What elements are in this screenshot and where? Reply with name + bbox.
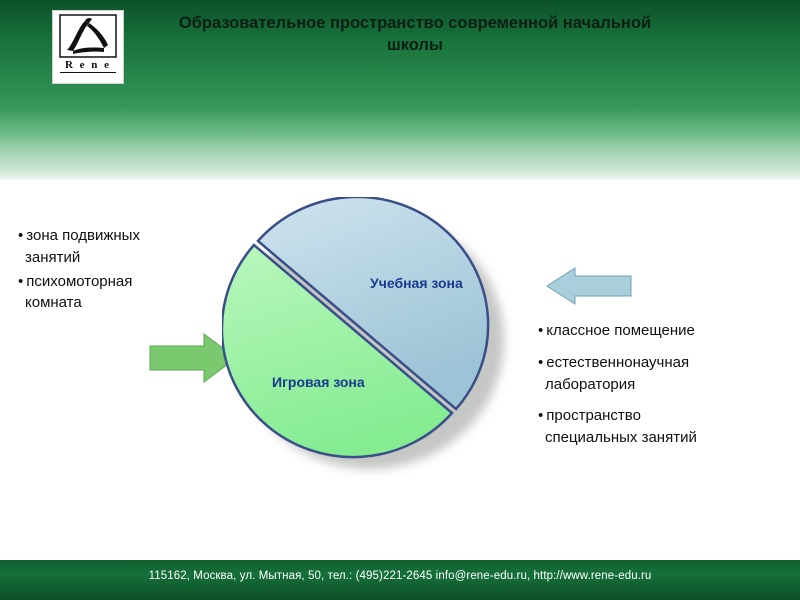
list-item: •классное помещение [538,320,793,342]
list-item: •естественнонаучная лаборатория [538,352,793,396]
sector-study-zone-label: Учебная зона [370,275,463,291]
footer-band: 115162, Москва, ул. Мытная, 50, тел.: (4… [0,560,800,600]
bullet-glyph: • [538,407,543,424]
book-logo-icon [59,14,117,58]
pie-chart [222,197,522,467]
list-item-line2: специальных занятий [538,427,793,449]
logo-divider [60,72,116,73]
list-item-line1: пространство [546,407,641,424]
arrow-to-study-zone-icon [545,266,633,306]
slide: R e n e Образовательное пространство сов… [0,0,800,600]
list-item-line1: зона подвижных [26,227,140,244]
list-item: •пространство специальных занятий [538,405,793,449]
logo-text: R e n e [65,59,111,71]
right-list: •классное помещение •естественнонаучная … [538,320,793,459]
footer-contact-text: 115162, Москва, ул. Мытная, 50, тел.: (4… [0,570,800,582]
list-item-line1: психомоторная [26,273,132,290]
list-item: •зона подвижных занятий [18,225,223,269]
bullet-glyph: • [18,273,23,290]
logo: R e n e [52,10,124,84]
bullet-glyph: • [18,227,23,244]
content-area: •зона подвижных занятий •психомоторная к… [0,180,800,560]
list-item-line2: занятий [18,247,223,269]
list-item-line2: комната [18,292,223,314]
list-item: •психомоторная комната [18,271,223,315]
bullet-glyph: • [538,322,543,339]
zone-diagram: Учебная зона Игровая зона [222,197,522,467]
page-title: Образовательное пространство современной… [150,12,680,57]
list-item-line1: классное помещение [546,322,695,339]
left-list: •зона подвижных занятий •психомоторная к… [18,225,223,316]
bullet-glyph: • [538,354,543,371]
list-item-line2: лаборатория [538,374,793,396]
list-item-line1: естественнонаучная [546,354,689,371]
sector-game-zone-label: Игровая зона [272,374,365,390]
